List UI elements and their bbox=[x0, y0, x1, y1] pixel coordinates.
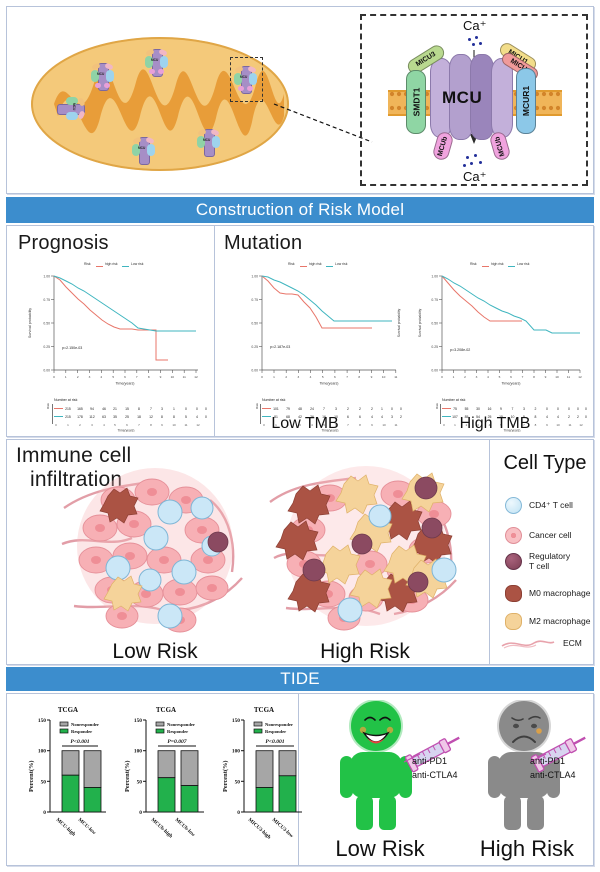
svg-text:4: 4 bbox=[196, 415, 198, 419]
legend-title-cell-type: Cell Type bbox=[495, 452, 595, 475]
legend-label-ecm: ECM bbox=[563, 639, 582, 649]
svg-text:9: 9 bbox=[545, 375, 547, 379]
svg-text:10: 10 bbox=[382, 375, 386, 379]
svg-text:0.50: 0.50 bbox=[251, 322, 258, 326]
km-low-tmb-canvas: 1.000.75 0.500.250.00 012 345 678 91011 … bbox=[226, 268, 404, 393]
km-high-tmb-legend-title: Risk bbox=[470, 262, 477, 266]
svg-text:6: 6 bbox=[126, 423, 128, 427]
svg-text:12: 12 bbox=[578, 375, 582, 379]
svg-text:Survival probability: Survival probability bbox=[418, 308, 422, 337]
legend-item-m0: M0 macrophage bbox=[505, 585, 590, 602]
svg-text:0: 0 bbox=[185, 407, 187, 411]
svg-text:0.00: 0.00 bbox=[251, 369, 258, 373]
legend-label-cancer: Cancer cell bbox=[529, 531, 572, 541]
svg-text:7: 7 bbox=[346, 375, 348, 379]
svg-text:50: 50 bbox=[235, 779, 241, 785]
svg-text:0.25: 0.25 bbox=[431, 345, 438, 349]
svg-text:9: 9 bbox=[371, 423, 373, 427]
svg-text:215: 215 bbox=[65, 415, 71, 419]
legend-item-ecm: ECM bbox=[500, 637, 582, 651]
svg-text:12: 12 bbox=[579, 423, 583, 427]
svg-text:0: 0 bbox=[568, 407, 570, 411]
tumor-low-risk bbox=[60, 460, 250, 640]
svg-text:5: 5 bbox=[499, 375, 501, 379]
svg-text:0: 0 bbox=[53, 375, 55, 379]
m2-macrophage-icon bbox=[505, 613, 522, 630]
svg-text:Survival probability: Survival probability bbox=[397, 308, 401, 337]
svg-text:0.25: 0.25 bbox=[251, 345, 258, 349]
graphical-abstract: MCU MCU MCU MCU bbox=[0, 0, 600, 872]
svg-text:0: 0 bbox=[139, 810, 142, 816]
svg-text:4: 4 bbox=[100, 375, 102, 379]
ecm-icon bbox=[500, 637, 556, 651]
mcu-barrel-right bbox=[491, 58, 513, 138]
km-prognosis-risk-table: Number at risk Risk 21516594 462115 873 … bbox=[16, 398, 208, 432]
therapy-line2-high: anti-CTLA4 bbox=[530, 770, 576, 780]
svg-text:215: 215 bbox=[65, 407, 71, 411]
svg-text:24: 24 bbox=[310, 407, 314, 411]
svg-text:4: 4 bbox=[310, 375, 312, 379]
svg-text:2: 2 bbox=[464, 375, 466, 379]
svg-text:12: 12 bbox=[149, 415, 153, 419]
subunit-mcur1-label: MCUR1 bbox=[521, 86, 531, 116]
svg-text:0: 0 bbox=[237, 810, 240, 816]
svg-text:46: 46 bbox=[102, 407, 106, 411]
svg-text:6: 6 bbox=[510, 375, 512, 379]
svg-text:7: 7 bbox=[150, 407, 152, 411]
subunit-mcur1: MCUR1 bbox=[516, 68, 536, 134]
tcga-mcub-canvas: 150100 500 Percent(%) Nonresponder Respo… bbox=[118, 706, 214, 846]
svg-text:MICU3-low: MICU3-low bbox=[271, 817, 295, 839]
svg-text:2: 2 bbox=[79, 423, 81, 427]
svg-text:1.00: 1.00 bbox=[43, 275, 50, 279]
svg-text:3: 3 bbox=[335, 407, 337, 411]
svg-text:1: 1 bbox=[173, 407, 175, 411]
therapy-line2-low: anti-CTLA4 bbox=[412, 770, 458, 780]
svg-text:0.00: 0.00 bbox=[43, 369, 50, 373]
svg-text:10: 10 bbox=[171, 375, 175, 379]
svg-text:0: 0 bbox=[546, 407, 548, 411]
km-legend-high: high risk bbox=[105, 262, 118, 266]
svg-text:MCUb-low: MCUb-low bbox=[174, 817, 197, 838]
svg-text:0.75: 0.75 bbox=[43, 298, 50, 302]
svg-text:0: 0 bbox=[441, 375, 443, 379]
svg-text:3: 3 bbox=[161, 407, 163, 411]
svg-text:48: 48 bbox=[298, 407, 302, 411]
svg-text:0: 0 bbox=[196, 407, 198, 411]
svg-text:100: 100 bbox=[38, 749, 46, 755]
svg-text:7: 7 bbox=[138, 423, 140, 427]
km-legend-title: Risk bbox=[84, 262, 91, 266]
subunit-mcub-left-label: MCUb bbox=[437, 135, 449, 156]
m0-macrophage-icon bbox=[505, 585, 522, 602]
svg-text:8: 8 bbox=[150, 423, 152, 427]
svg-text:112: 112 bbox=[89, 415, 95, 419]
divider-immune-legend bbox=[489, 440, 490, 664]
svg-text:0.75: 0.75 bbox=[251, 298, 258, 302]
zoom-selection-box bbox=[230, 57, 263, 102]
svg-text:11: 11 bbox=[567, 375, 570, 379]
tumor-high-risk bbox=[266, 458, 466, 642]
svg-text:3: 3 bbox=[91, 423, 93, 427]
svg-text:15: 15 bbox=[125, 407, 129, 411]
km-plot-high-tmb: Risk high risk Low risk 1.000.75 0.500.2… bbox=[406, 262, 588, 432]
svg-text:1: 1 bbox=[67, 423, 69, 427]
km-plot-low-tmb: Risk high risk Low risk 1.000.75 0.500.2… bbox=[226, 262, 404, 432]
svg-text:50: 50 bbox=[41, 779, 47, 785]
svg-text:Percent(%): Percent(%) bbox=[28, 761, 35, 792]
svg-text:8: 8 bbox=[358, 375, 360, 379]
regulatory-t-cell-icon bbox=[505, 553, 522, 570]
svg-text:1.00: 1.00 bbox=[431, 275, 438, 279]
svg-text:25: 25 bbox=[125, 415, 129, 419]
svg-text:7: 7 bbox=[323, 407, 325, 411]
svg-text:7: 7 bbox=[512, 407, 514, 411]
legend-item-cd4: CD4⁺ T cell bbox=[505, 497, 573, 514]
svg-text:1.00: 1.00 bbox=[251, 275, 258, 279]
svg-text:Responder: Responder bbox=[71, 729, 92, 734]
svg-text:0.50: 0.50 bbox=[431, 322, 438, 326]
svg-text:6: 6 bbox=[124, 375, 126, 379]
svg-text:0: 0 bbox=[585, 407, 587, 411]
calcium-label-bottom: Ca⁺ bbox=[463, 169, 486, 185]
svg-text:9: 9 bbox=[371, 375, 373, 379]
svg-text:Survival probability: Survival probability bbox=[28, 308, 32, 338]
km-low-tmb-legend-high: high risk bbox=[309, 262, 322, 266]
svg-text:11: 11 bbox=[568, 423, 571, 427]
svg-text:P=0.007: P=0.007 bbox=[167, 739, 186, 745]
svg-text:11: 11 bbox=[394, 423, 397, 427]
svg-text:P<0.001: P<0.001 bbox=[70, 739, 89, 745]
km-low-tmb-legend-title: Risk bbox=[288, 262, 295, 266]
svg-text:4: 4 bbox=[103, 423, 105, 427]
tcga-mcu-canvas: 150100 500 Percent(%) Nonresponder Respo… bbox=[22, 706, 114, 846]
therapy-line1-high: anti-PD1 bbox=[530, 756, 565, 766]
legend-item-m2: M2 macrophage bbox=[505, 613, 590, 630]
svg-text:Percent(%): Percent(%) bbox=[124, 761, 131, 792]
heading-prognosis: Prognosis bbox=[18, 232, 109, 255]
svg-text:0.75: 0.75 bbox=[431, 298, 438, 302]
legend-label-m0: M0 macrophage bbox=[529, 589, 590, 599]
svg-text:6: 6 bbox=[334, 375, 336, 379]
svg-text:0: 0 bbox=[261, 375, 263, 379]
svg-text:5: 5 bbox=[114, 423, 116, 427]
svg-text:55: 55 bbox=[465, 407, 469, 411]
svg-text:Nonresponder: Nonresponder bbox=[167, 722, 195, 727]
svg-text:75: 75 bbox=[453, 407, 457, 411]
svg-text:Time(years): Time(years) bbox=[319, 382, 338, 386]
svg-text:3: 3 bbox=[523, 407, 525, 411]
therapy-line1-low: anti-PD1 bbox=[412, 756, 447, 766]
km-high-tmb-legend-high: high risk bbox=[491, 262, 504, 266]
svg-text:100: 100 bbox=[232, 749, 240, 755]
svg-text:4: 4 bbox=[487, 375, 489, 379]
legend-label-m2: M2 macrophage bbox=[529, 617, 590, 627]
svg-text:3: 3 bbox=[391, 415, 393, 419]
svg-text:12: 12 bbox=[194, 375, 198, 379]
svg-text:21: 21 bbox=[113, 407, 117, 411]
svg-text:MCUb-high: MCUb-high bbox=[150, 817, 174, 839]
svg-text:165: 165 bbox=[77, 407, 83, 411]
bar-chart-tcga-mcub: TCGA 150100 500 Percent(%) Nonresponder … bbox=[118, 706, 214, 846]
svg-text:3: 3 bbox=[89, 375, 91, 379]
svg-text:63: 63 bbox=[102, 415, 106, 419]
legend-item-cancer: Cancer cell bbox=[505, 527, 572, 544]
svg-text:2: 2 bbox=[359, 407, 361, 411]
km-high-tmb-pvalue: p=3.208e-02 bbox=[450, 348, 470, 352]
svg-text:50: 50 bbox=[137, 779, 143, 785]
svg-text:11: 11 bbox=[183, 375, 186, 379]
svg-text:Time(years): Time(years) bbox=[501, 382, 520, 386]
svg-text:2: 2 bbox=[371, 407, 373, 411]
caption-person-high-risk: High Risk bbox=[462, 836, 592, 862]
svg-text:16: 16 bbox=[488, 407, 492, 411]
km-legend-low: Low risk bbox=[131, 262, 143, 266]
svg-text:2: 2 bbox=[285, 375, 287, 379]
svg-text:2: 2 bbox=[77, 375, 79, 379]
mcu-main-label: MCU bbox=[442, 88, 482, 108]
svg-text:4: 4 bbox=[557, 415, 559, 419]
caption-tumor-high-risk: High Risk bbox=[310, 640, 420, 664]
svg-text:Responder: Responder bbox=[167, 729, 188, 734]
svg-text:3: 3 bbox=[476, 375, 478, 379]
caption-person-low-risk: Low Risk bbox=[320, 836, 440, 862]
caption-high-tmb: High TMB bbox=[440, 415, 550, 433]
svg-text:8: 8 bbox=[173, 415, 175, 419]
km-high-tmb-canvas: 1.000.75 0.500.250.00 012 345 678 91011 … bbox=[406, 268, 588, 393]
cd4-t-cell-icon bbox=[505, 497, 522, 514]
svg-text:Responder: Responder bbox=[265, 729, 286, 734]
svg-text:35: 35 bbox=[113, 415, 117, 419]
svg-text:5: 5 bbox=[112, 375, 114, 379]
divider-prognosis-mutation bbox=[214, 226, 215, 436]
band-risk-model-title: Construction of Risk Model bbox=[196, 200, 404, 220]
therapy-label-low-risk: anti-PD1 anti-CTLA4 bbox=[412, 755, 458, 782]
svg-text:2: 2 bbox=[535, 407, 537, 411]
svg-text:8: 8 bbox=[161, 415, 163, 419]
svg-text:9: 9 bbox=[500, 407, 502, 411]
svg-text:10: 10 bbox=[555, 375, 559, 379]
svg-text:2: 2 bbox=[577, 415, 579, 419]
km-prognosis-pvalue: p=2.150e-03 bbox=[62, 346, 82, 350]
svg-text:4: 4 bbox=[381, 415, 383, 419]
bar-chart-tcga-mcu: TCGA 150100 500 Percent(%) Nonresponder … bbox=[22, 706, 114, 846]
svg-text:7: 7 bbox=[522, 375, 524, 379]
svg-text:101: 101 bbox=[273, 407, 279, 411]
svg-text:150: 150 bbox=[134, 718, 142, 724]
svg-text:0: 0 bbox=[585, 415, 587, 419]
bar-chart-tcga-micu3: TCGA 150100 500 Percent(%) Nonresponder … bbox=[216, 706, 312, 846]
svg-text:178: 178 bbox=[77, 415, 83, 419]
heading-mutation: Mutation bbox=[224, 232, 302, 255]
svg-text:10: 10 bbox=[382, 423, 386, 427]
svg-text:79: 79 bbox=[286, 407, 290, 411]
svg-text:Time(years): Time(years) bbox=[118, 428, 135, 432]
svg-text:150: 150 bbox=[232, 718, 240, 724]
svg-text:94: 94 bbox=[90, 407, 94, 411]
svg-text:18: 18 bbox=[137, 415, 141, 419]
svg-text:3: 3 bbox=[298, 375, 300, 379]
cancer-cell-icon bbox=[505, 527, 522, 544]
svg-text:4: 4 bbox=[371, 415, 373, 419]
km-plot-prognosis: Risk high risk Low risk 1.000.75 0. bbox=[16, 262, 208, 432]
subunit-mcub-right-label: MCUb bbox=[494, 135, 506, 156]
svg-text:5: 5 bbox=[322, 375, 324, 379]
svg-text:0.25: 0.25 bbox=[43, 345, 50, 349]
svg-text:2: 2 bbox=[347, 407, 349, 411]
svg-text:8: 8 bbox=[148, 375, 150, 379]
svg-text:11: 11 bbox=[394, 375, 397, 379]
svg-text:0: 0 bbox=[205, 407, 207, 411]
svg-text:2: 2 bbox=[568, 415, 570, 419]
band-tide-title: TIDE bbox=[280, 669, 320, 689]
caption-low-tmb: Low TMB bbox=[250, 415, 360, 433]
svg-text:5: 5 bbox=[185, 415, 187, 419]
svg-text:Nonresponder: Nonresponder bbox=[265, 722, 293, 727]
svg-text:MCU-low: MCU-low bbox=[77, 817, 97, 836]
svg-text:7: 7 bbox=[136, 375, 138, 379]
therapy-label-high-risk: anti-PD1 anti-CTLA4 bbox=[530, 755, 576, 782]
risk-table-numbers: 21516594 462115 873 100 0 215178112 6335… bbox=[16, 398, 208, 432]
mcu-complex-diagram: Ca⁺ bbox=[360, 14, 588, 186]
band-construction-of-risk-model: Construction of Risk Model bbox=[6, 197, 594, 223]
svg-text:1: 1 bbox=[65, 375, 67, 379]
svg-text:10: 10 bbox=[556, 423, 560, 427]
svg-text:1: 1 bbox=[453, 375, 455, 379]
svg-text:11: 11 bbox=[184, 423, 187, 427]
svg-text:8: 8 bbox=[138, 407, 140, 411]
svg-text:150: 150 bbox=[38, 718, 46, 724]
svg-text:MCU-high: MCU-high bbox=[55, 817, 77, 838]
caption-tumor-low-risk: Low Risk bbox=[100, 640, 210, 664]
svg-text:0: 0 bbox=[43, 810, 46, 816]
svg-text:0: 0 bbox=[55, 423, 57, 427]
svg-text:100: 100 bbox=[134, 749, 142, 755]
svg-text:9: 9 bbox=[161, 423, 163, 427]
svg-text:10: 10 bbox=[172, 423, 176, 427]
svg-text:0: 0 bbox=[557, 407, 559, 411]
svg-text:0: 0 bbox=[400, 407, 402, 411]
svg-text:8: 8 bbox=[533, 375, 535, 379]
km-high-tmb-legend-low: Low risk bbox=[517, 262, 529, 266]
svg-text:1: 1 bbox=[273, 375, 275, 379]
km-low-tmb-pvalue: p=2.187e-03 bbox=[270, 345, 290, 349]
legend-label-treg: Regulatory T cell bbox=[529, 552, 570, 572]
km-low-tmb-legend-low: Low risk bbox=[335, 262, 347, 266]
svg-text:0: 0 bbox=[391, 407, 393, 411]
svg-text:2: 2 bbox=[400, 415, 402, 419]
svg-text:0: 0 bbox=[577, 407, 579, 411]
svg-text:9: 9 bbox=[160, 375, 162, 379]
svg-text:Nonresponder: Nonresponder bbox=[71, 722, 99, 727]
band-tide: TIDE bbox=[6, 667, 594, 691]
legend-item-treg: Regulatory T cell bbox=[505, 552, 570, 572]
legend-label-cd4: CD4⁺ T cell bbox=[529, 501, 573, 511]
svg-text:Time(years): Time(years) bbox=[115, 382, 134, 386]
svg-text:0.50: 0.50 bbox=[43, 322, 50, 326]
svg-text:30: 30 bbox=[476, 407, 480, 411]
svg-text:0.00: 0.00 bbox=[431, 369, 438, 373]
svg-text:MICU3-high: MICU3-high bbox=[247, 817, 272, 841]
svg-text:P<0.001: P<0.001 bbox=[265, 739, 284, 745]
svg-text:0: 0 bbox=[205, 415, 207, 419]
svg-text:Percent(%): Percent(%) bbox=[222, 761, 229, 792]
svg-text:12: 12 bbox=[196, 423, 200, 427]
subunit-smdt1-label: SMDT1 bbox=[411, 88, 421, 117]
svg-text:1: 1 bbox=[381, 407, 383, 411]
subunit-smdt1: SMDT1 bbox=[406, 70, 426, 134]
km-prognosis-canvas: 1.000.75 0.500.250.00 012 345 678 91011 … bbox=[16, 268, 208, 393]
tcga-micu3-canvas: 150100 500 Percent(%) Nonresponder Respo… bbox=[216, 706, 312, 846]
